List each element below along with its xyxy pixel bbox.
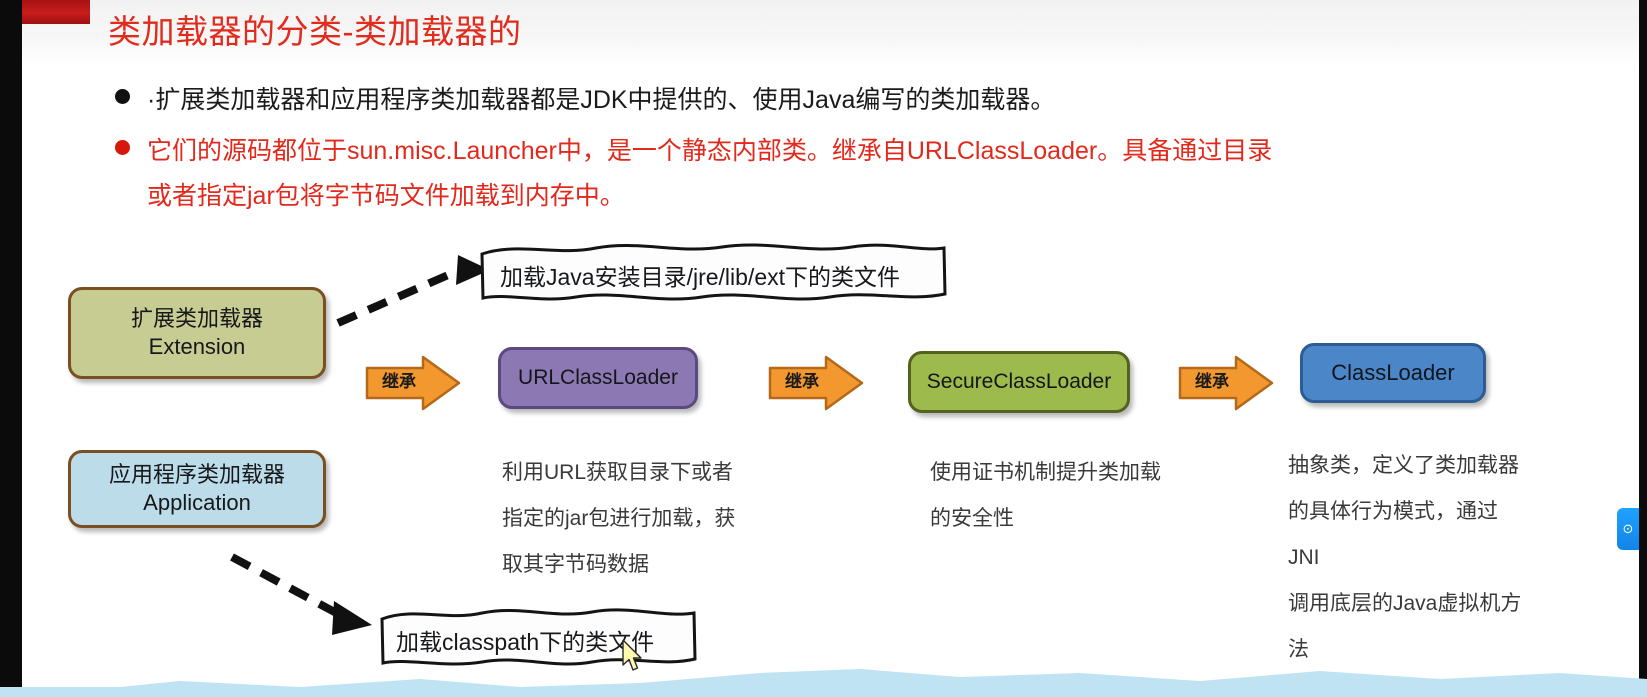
node-label: 应用程序类加载器 Application <box>109 461 285 517</box>
mouse-cursor-icon <box>622 640 646 674</box>
bullet-text: ·扩展类加载器和应用程序类加载器都是JDK中提供的、使用Java编写的类加载器。 <box>147 78 1055 123</box>
description-secureclassloader: 使用证书机制提升类加载 的安全性 <box>930 450 1180 542</box>
description-line: 的具体行为模式，通过JNI <box>1288 489 1528 581</box>
description-line: 的安全性 <box>930 496 1180 542</box>
description-line: 抽象类，定义了类加载器 <box>1288 443 1528 489</box>
description-line: 指定的jar包进行加载，获 <box>502 496 752 542</box>
bullet-item: 它们的源码都位于sun.misc.Launcher中，是一个静态内部类。继承自U… <box>108 129 1587 219</box>
node-label-cn: 扩展类加载器 <box>131 305 263 333</box>
bullet-dot-icon <box>115 140 130 155</box>
node-label: SecureClassLoader <box>927 370 1111 394</box>
slide-canvas: 类加载器的分类-类加载器的 ·扩展类加载器和应用程序类加载器都是JDK中提供的、… <box>0 0 1647 697</box>
dashed-arrow-application <box>222 543 402 653</box>
callout-extension-path: 加载Java安装目录/jre/lib/ext下的类文件 <box>478 240 948 302</box>
description-line: 取其字节码数据 <box>502 542 752 588</box>
side-tab-button[interactable]: ⊙ <box>1617 508 1639 550</box>
node-secureclassloader[interactable]: SecureClassLoader <box>908 351 1130 413</box>
page-title: 类加载器的分类-类加载器的 <box>108 12 522 52</box>
node-label: 扩展类加载器 Extension <box>131 305 263 361</box>
node-label: URLClassLoader <box>518 366 678 390</box>
node-classloader[interactable]: ClassLoader <box>1300 343 1486 403</box>
node-label-cn: 应用程序类加载器 <box>109 461 285 489</box>
arrow-label: 继承 <box>774 370 830 394</box>
node-label: ClassLoader <box>1331 360 1455 386</box>
inherit-arrow-3: 继承 <box>1178 355 1274 411</box>
node-extension-classloader[interactable]: 扩展类加载器 Extension <box>68 287 326 379</box>
arrow-label: 继承 <box>1184 370 1240 394</box>
inherit-arrow-1: 继承 <box>365 355 461 411</box>
callout-text: 加载classpath下的类文件 <box>396 623 654 657</box>
description-line: 使用证书机制提升类加载 <box>930 450 1180 496</box>
node-label-en: Application <box>109 489 285 517</box>
description-classloader: 抽象类，定义了类加载器 的具体行为模式，通过JNI 调用底层的Java虚拟机方 … <box>1288 443 1528 673</box>
classloader-diagram: 加载Java安装目录/jre/lib/ext下的类文件 加载classpath下… <box>0 225 1647 697</box>
description-urlclassloader: 利用URL获取目录下或者 指定的jar包进行加载，获 取其字节码数据 <box>502 450 752 588</box>
bottom-wave-decoration <box>0 657 1647 697</box>
description-line: 利用URL获取目录下或者 <box>502 450 752 496</box>
side-tab-icon: ⊙ <box>1623 521 1634 537</box>
bullet-item: ·扩展类加载器和应用程序类加载器都是JDK中提供的、使用Java编写的类加载器。 <box>108 78 1587 123</box>
description-line: 调用底层的Java虚拟机方 <box>1288 581 1528 627</box>
node-urlclassloader[interactable]: URLClassLoader <box>498 347 698 409</box>
red-accent-tab <box>22 0 90 24</box>
bullet-dot-icon <box>115 89 130 104</box>
node-application-classloader[interactable]: 应用程序类加载器 Application <box>68 450 326 528</box>
node-label-en: Extension <box>131 333 263 361</box>
dashed-arrow-extension <box>330 243 500 333</box>
inherit-arrow-2: 继承 <box>768 355 864 411</box>
arrow-label: 继承 <box>371 370 427 394</box>
callout-text: 加载Java安装目录/jre/lib/ext下的类文件 <box>500 258 900 292</box>
bullet-text: 它们的源码都位于sun.misc.Launcher中，是一个静态内部类。继承自U… <box>147 129 1272 219</box>
bullet-list: ·扩展类加载器和应用程序类加载器都是JDK中提供的、使用Java编写的类加载器。… <box>108 78 1587 225</box>
